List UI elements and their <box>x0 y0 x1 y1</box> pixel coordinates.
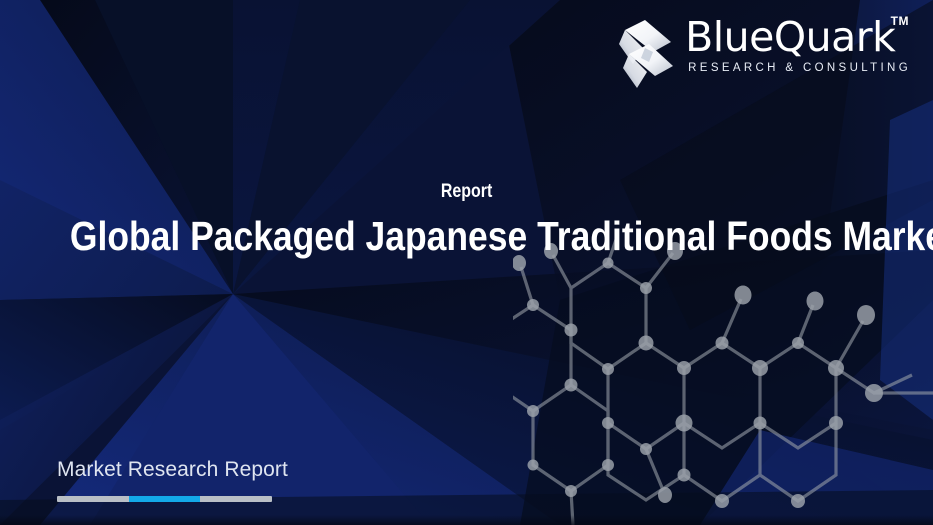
bluequark-chevron-mark-icon <box>619 18 675 92</box>
bar-segment-cyan <box>129 496 200 502</box>
footer-label: Market Research Report <box>57 458 288 482</box>
title-area: Report Global Packaged Japanese Traditio… <box>0 181 933 258</box>
hexagonal-molecule-lattice <box>513 235 933 525</box>
report-kicker: Report <box>441 181 492 203</box>
footer-block: Market Research Report <box>57 458 288 502</box>
trademark-symbol: TM <box>891 14 909 28</box>
report-title: Global Packaged Japanese Traditional Foo… <box>63 214 870 258</box>
brand-logo[interactable]: BlueQuark RESEARCH & CONSULTING <box>619 16 911 92</box>
bar-segment-gray-right <box>200 496 272 502</box>
brand-wordmark: BlueQuark <box>685 16 911 59</box>
brand-tagline: RESEARCH & CONSULTING <box>685 62 911 74</box>
bar-segment-gray-left <box>57 496 129 502</box>
brand-wordmark-group: BlueQuark RESEARCH & CONSULTING <box>685 16 911 74</box>
accent-progress-bar <box>57 496 272 502</box>
report-cover: TM <box>0 0 933 525</box>
